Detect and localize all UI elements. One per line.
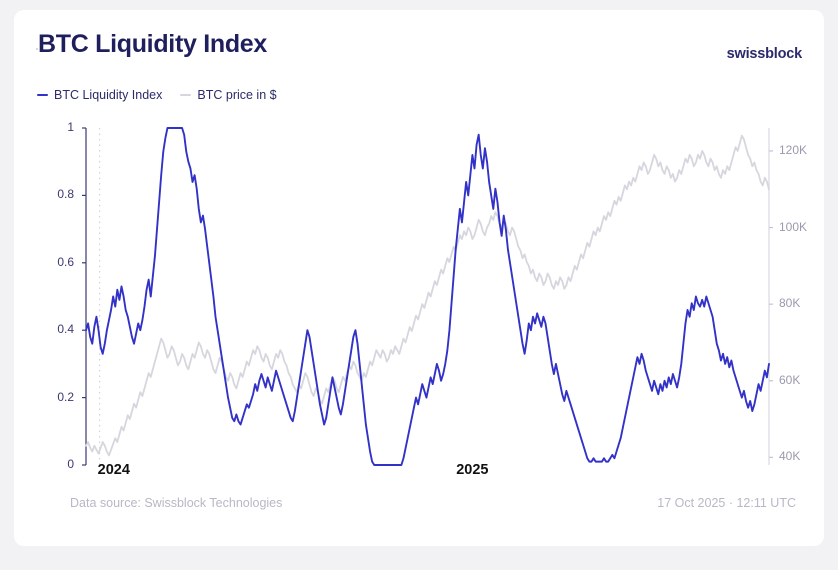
legend-item-price[interactable]: BTC price in $ xyxy=(180,88,276,102)
chart-svg xyxy=(14,110,824,490)
chart-legend: BTC Liquidity Index BTC price in $ xyxy=(37,88,277,102)
y-axis-right-tick-label: 40K xyxy=(779,449,827,463)
x-axis-tick-label: 2024 xyxy=(98,462,130,478)
data-source-text: Data source: Swissblock Technologies xyxy=(70,496,282,510)
y-axis-left-tick-label: 0.2 xyxy=(34,390,74,404)
y-axis-left-tick-label: 0.4 xyxy=(34,322,74,336)
chart-card: BTC Liquidity Index swissblock BTC Liqui… xyxy=(14,10,824,546)
timestamp-text: 17 Oct 2025 · 12:11 UTC xyxy=(657,496,796,510)
page-title: BTC Liquidity Index xyxy=(38,30,267,59)
y-axis-left-tick-label: 0 xyxy=(34,457,74,471)
chart-plot-area: 00.20.40.60.81 40K60K80K100K120K 2024202… xyxy=(14,110,824,490)
x-axis-tick-label: 2025 xyxy=(456,462,488,478)
y-axis-left-tick-label: 1 xyxy=(34,120,74,134)
y-axis-right-tick-label: 120K xyxy=(779,143,827,157)
y-axis-right-tick-label: 80K xyxy=(779,296,827,310)
legend-label-liquidity: BTC Liquidity Index xyxy=(54,88,162,102)
legend-label-price: BTC price in $ xyxy=(197,88,276,102)
y-axis-left-tick-label: 0.8 xyxy=(34,187,74,201)
legend-item-liquidity[interactable]: BTC Liquidity Index xyxy=(37,88,162,102)
y-axis-right-tick-label: 100K xyxy=(779,220,827,234)
swissblock-logo: swissblock xyxy=(727,46,802,62)
dash-icon xyxy=(37,94,48,97)
y-axis-right-tick-label: 60K xyxy=(779,373,827,387)
dash-icon xyxy=(180,94,191,97)
y-axis-left-tick-label: 0.6 xyxy=(34,255,74,269)
